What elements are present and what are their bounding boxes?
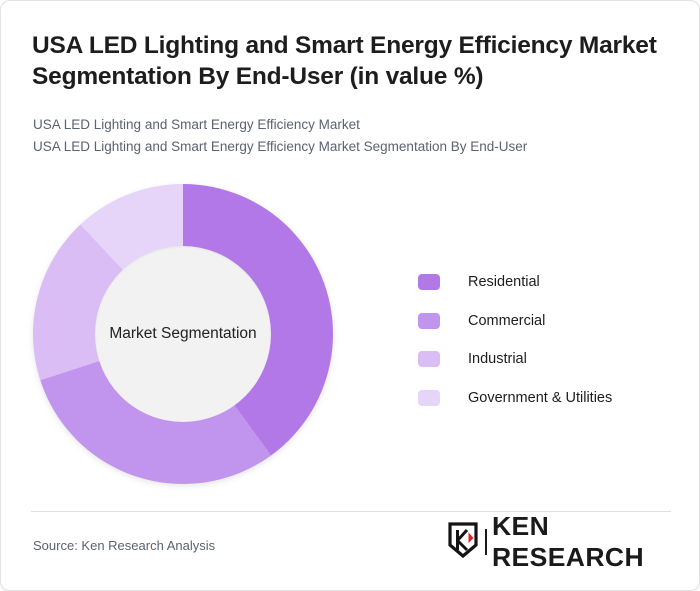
logo-wordmark: KEN RESEARCH xyxy=(492,511,700,573)
legend-item[interactable]: Commercial xyxy=(418,302,612,341)
ken-research-shield-icon xyxy=(447,521,479,564)
chart-legend: ResidentialCommercialIndustrialGovernmen… xyxy=(418,263,612,417)
legend-item-label: Residential xyxy=(468,274,540,290)
legend-item-label: Government & Utilities xyxy=(468,390,612,406)
chart-subtitle-2: USA LED Lighting and Smart Energy Effici… xyxy=(33,136,673,158)
legend-swatch xyxy=(418,274,440,290)
chart-card: USA LED Lighting and Smart Energy Effici… xyxy=(0,0,700,591)
legend-item[interactable]: Government & Utilities xyxy=(418,379,612,418)
donut-chart: Market Segmentation xyxy=(33,184,333,484)
legend-swatch xyxy=(418,390,440,406)
legend-item-label: Industrial xyxy=(468,351,527,367)
donut-center-label: Market Segmentation xyxy=(109,325,256,343)
donut-center: Market Segmentation xyxy=(95,246,271,422)
chart-subtitles: USA LED Lighting and Smart Energy Effici… xyxy=(33,114,673,158)
legend-swatch xyxy=(418,351,440,367)
page-title: USA LED Lighting and Smart Energy Effici… xyxy=(32,31,672,93)
source-note: Source: Ken Research Analysis xyxy=(33,538,215,553)
ken-research-logo: KEN RESEARCH xyxy=(447,522,699,562)
chart-subtitle-1: USA LED Lighting and Smart Energy Effici… xyxy=(33,114,673,136)
legend-item-label: Commercial xyxy=(468,313,545,329)
logo-separator xyxy=(485,529,487,555)
legend-swatch xyxy=(418,313,440,329)
legend-item[interactable]: Industrial xyxy=(418,340,612,379)
legend-item[interactable]: Residential xyxy=(418,263,612,302)
